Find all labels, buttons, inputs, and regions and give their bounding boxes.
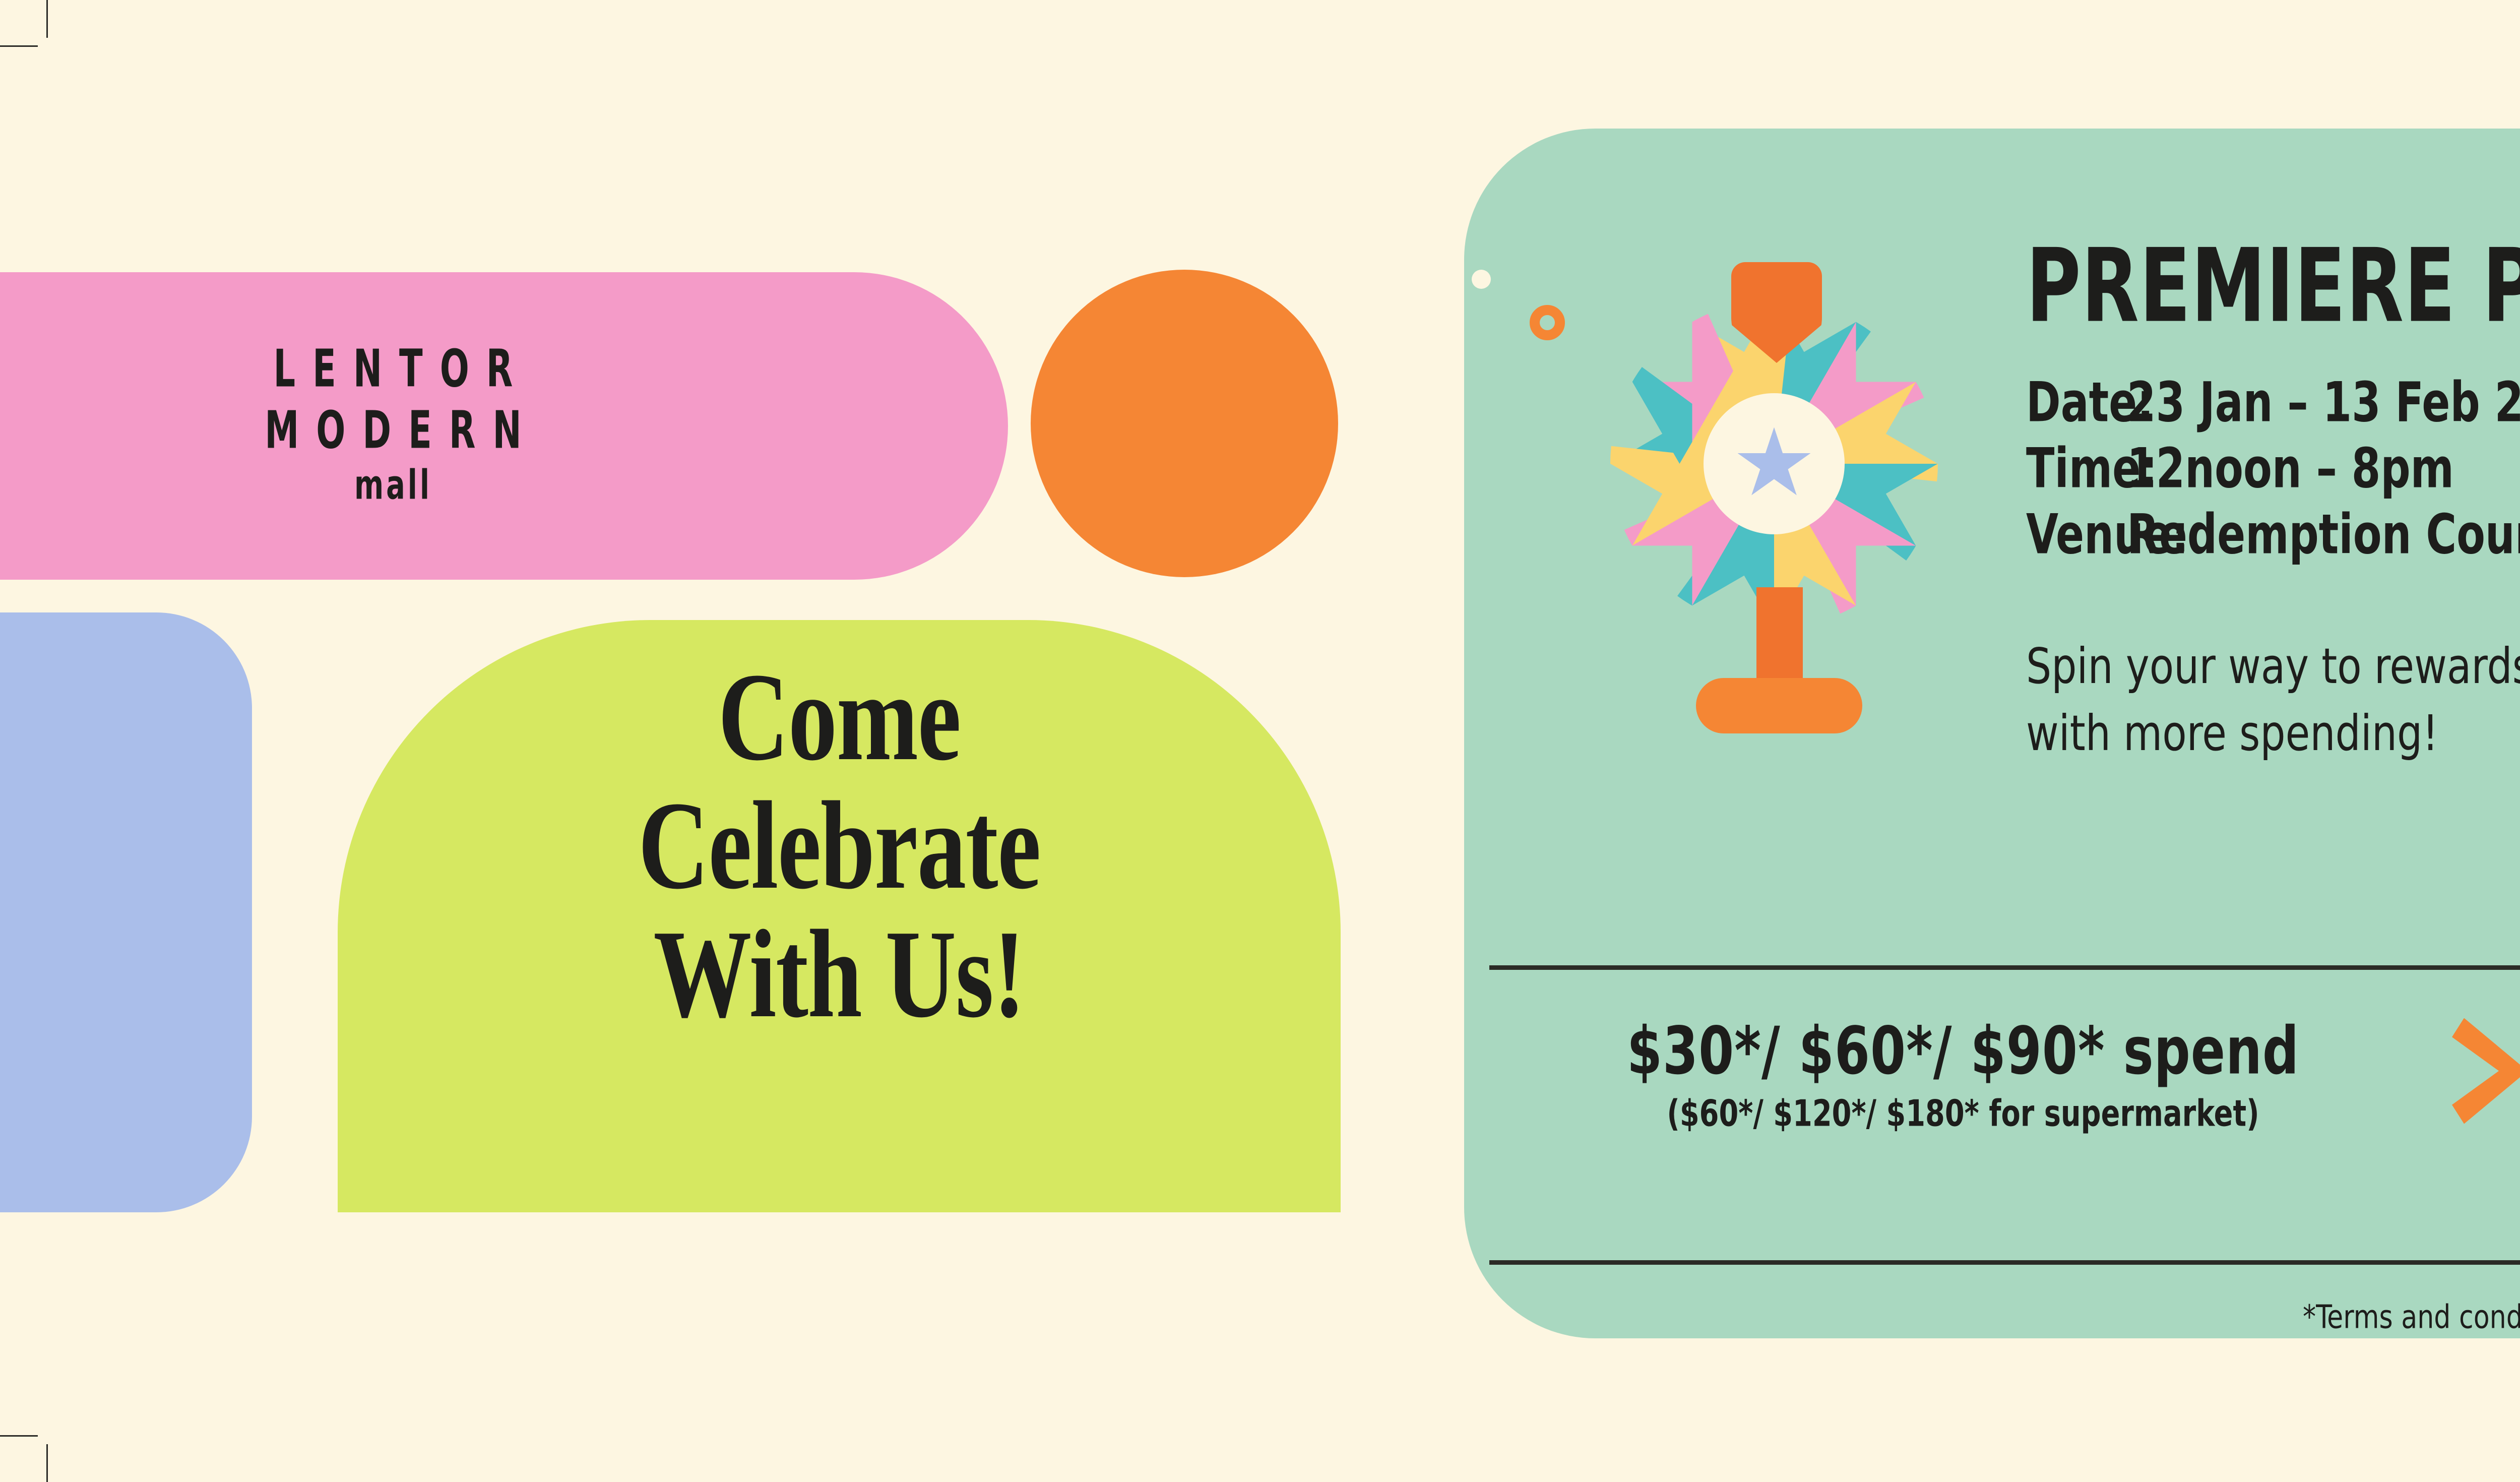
detail-row-time: Time: 12noon – 8pm (2026, 437, 2520, 500)
spend-tiers: $30*/ $60*/ $90* spend ($60*/ $120*/ $18… (1489, 1013, 2437, 1129)
crop-mark-top-left-horizontal (0, 45, 38, 47)
spend-tiers-main: $30*/ $60*/ $90* spend (1489, 1013, 2437, 1089)
cream-dot-icon (1472, 270, 1491, 289)
orange-ellipse-shape (1031, 270, 1338, 577)
detail-value-venue: Redemption Counter at 01-33 (2127, 503, 2520, 566)
detail-row-date: Date: 23 Jan – 13 Feb 2026 (2026, 371, 2520, 434)
celebrate-heading: Come Celebrate With Us! (448, 653, 1230, 1038)
crop-mark-bottom-left-vertical (46, 1444, 48, 1482)
detail-value-time: 12noon – 8pm (2127, 437, 2454, 500)
premiere-perks-card: PREMIERE PERKS Date: 23 Jan – 13 Feb 202… (1464, 129, 2520, 1338)
detail-label-time: Time: (2026, 437, 2127, 500)
celebrate-line-1: Come (448, 653, 1230, 781)
logo-line-modern: MODERN (171, 404, 615, 456)
terms-note: *Terms and conditions apply. (1464, 1298, 2520, 1336)
tagline-text: Spin your way to rewards, get more spin … (2026, 633, 2520, 767)
divider-bottom (1489, 1260, 2520, 1265)
wheel-hub (1704, 393, 1845, 534)
star-icon (1738, 427, 1811, 501)
offer-row: $30*/ $60*/ $90* spend ($60*/ $120*/ $18… (1489, 1013, 2520, 1129)
logo-line-lentor: LENTOR (171, 343, 615, 395)
promo-banner: LENTOR MODERN mall Come Celebrate With U… (0, 0, 2520, 1482)
crop-mark-top-left-vertical (46, 0, 48, 38)
crop-mark-bottom-left-horizontal (0, 1435, 38, 1437)
celebrate-line-2: Celebrate (448, 781, 1230, 910)
blue-rounded-shape (0, 612, 252, 1212)
orange-ring-icon (1530, 305, 1565, 340)
detail-label-venue: Venue: (2026, 503, 2127, 566)
celebrate-line-3: With Us! (448, 910, 1230, 1038)
divider-top (1489, 965, 2520, 970)
detail-value-date: 23 Jan – 13 Feb 2026 (2127, 371, 2520, 434)
wheel-base (1696, 678, 1862, 733)
spend-tiers-supermarket: ($60*/ $120*/ $180* for supermarket) (1489, 1092, 2437, 1135)
detail-row-venue: Venue: Redemption Counter at 01-33 (2026, 503, 2520, 566)
spin-wheel-illustration (1583, 244, 1966, 890)
logo-line-mall: mall (171, 465, 615, 506)
chevron-right-icon (2452, 1018, 2520, 1124)
detail-label-date: Date: (2026, 371, 2127, 434)
teal-plus-icon-right (1464, 164, 1500, 200)
page-title: PREMIERE PERKS (2026, 227, 2520, 345)
event-details: Date: 23 Jan – 13 Feb 2026 Time: 12noon … (2026, 371, 2520, 569)
mall-logo: LENTOR MODERN mall (171, 343, 615, 496)
